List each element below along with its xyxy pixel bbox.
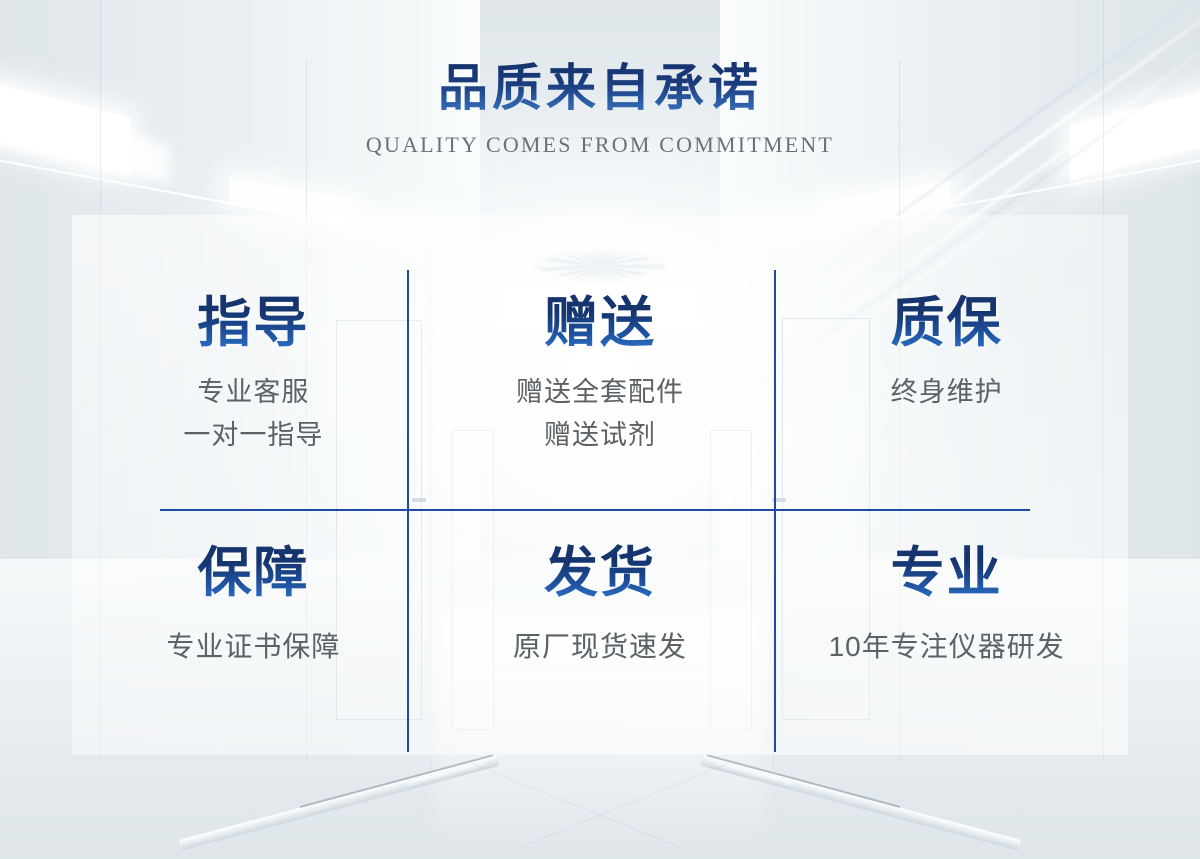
- feature-description-line: 专业客服: [80, 371, 427, 414]
- feature-description-line: 赠送试剂: [427, 414, 774, 457]
- feature-description: 专业证书保障: [80, 625, 427, 669]
- feature-description-line: 专业证书保障: [80, 625, 427, 669]
- page-title: 品质来自承诺: [0, 60, 1200, 118]
- content-layer: 品质来自承诺 QUALITY COMES FROM COMMITMENT 指导 …: [0, 0, 1200, 859]
- feature-description: 赠送全套配件 赠送试剂: [427, 371, 774, 456]
- page-subtitle: QUALITY COMES FROM COMMITMENT: [0, 132, 1200, 158]
- feature-description-line: 终身维护: [773, 371, 1120, 414]
- feature-keyword: 专业: [773, 544, 1120, 603]
- header-block: 品质来自承诺 QUALITY COMES FROM COMMITMENT: [0, 60, 1200, 158]
- feature-description: 终身维护: [773, 371, 1120, 414]
- feature-keyword: 发货: [427, 544, 774, 603]
- feature-description: 专业客服 一对一指导: [80, 371, 427, 456]
- feature-description: 原厂现货速发: [427, 625, 774, 669]
- feature-description-line: 赠送全套配件: [427, 371, 774, 414]
- feature-cell-warranty: 质保 终身维护: [773, 268, 1120, 510]
- feature-description-line: 10年专注仪器研发: [773, 625, 1120, 669]
- feature-keyword: 质保: [773, 294, 1120, 353]
- feature-description-line: 原厂现货速发: [427, 625, 774, 669]
- feature-cell-shipping: 发货 原厂现货速发: [427, 510, 774, 758]
- feature-cell-guidance: 指导 专业客服 一对一指导: [80, 268, 427, 510]
- features-grid: 指导 专业客服 一对一指导 赠送 赠送全套配件 赠送试剂 质保 终身维护: [80, 268, 1120, 758]
- feature-cell-expertise: 专业 10年专注仪器研发: [773, 510, 1120, 758]
- feature-description: 10年专注仪器研发: [773, 625, 1120, 669]
- feature-keyword: 赠送: [427, 294, 774, 353]
- feature-cell-gift: 赠送 赠送全套配件 赠送试剂: [427, 268, 774, 510]
- feature-cell-assurance: 保障 专业证书保障: [80, 510, 427, 758]
- feature-description-line: 一对一指导: [80, 414, 427, 457]
- feature-keyword: 指导: [80, 294, 427, 353]
- feature-keyword: 保障: [80, 544, 427, 603]
